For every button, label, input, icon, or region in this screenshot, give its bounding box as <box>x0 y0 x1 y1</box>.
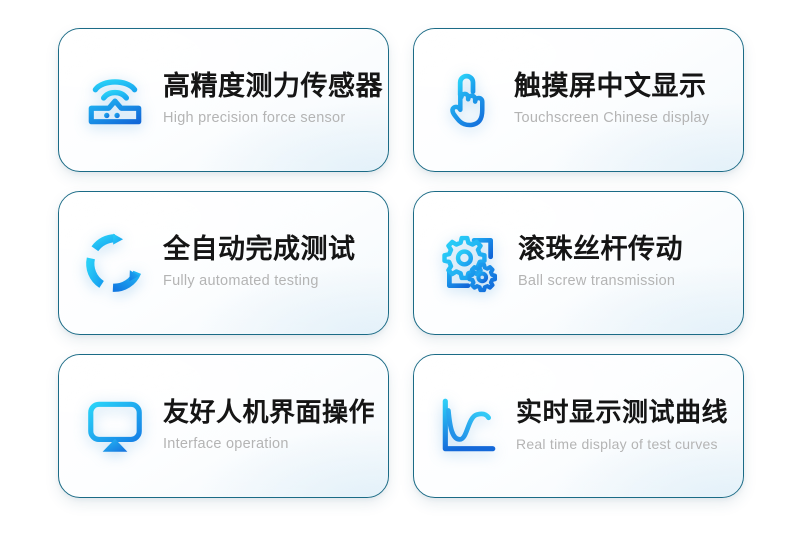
feature-card-fully-automated-testing[interactable]: 全自动完成测试 Fully automated testing <box>58 191 389 335</box>
feature-card-touchscreen-chinese-display[interactable]: 触摸屏中文显示 Touchscreen Chinese display <box>413 28 744 172</box>
touch-hand-icon <box>434 64 506 136</box>
circular-arrows-refresh-icon <box>79 227 151 299</box>
feature-subtitle: Interface operation <box>163 436 378 453</box>
feature-card-text: 触摸屏中文显示 Touchscreen Chinese display <box>514 71 733 129</box>
feature-title: 滚珠丝杆传动 <box>518 234 733 264</box>
monitor-bar-chart-icon <box>79 390 151 462</box>
feature-card-grid: 高精度测力传感器 High precision force sensor <box>0 0 790 545</box>
feature-card-ball-screw-transmission[interactable]: 滚珠丝杆传动 Ball screw transmission <box>413 191 744 335</box>
feature-title: 实时显示测试曲线 <box>516 398 733 427</box>
feature-card-interface-operation[interactable]: 友好人机界面操作 Interface operation <box>58 354 389 498</box>
wireless-force-sensor-icon <box>79 64 151 136</box>
feature-subtitle: Touchscreen Chinese display <box>514 110 733 127</box>
feature-subtitle: High precision force sensor <box>163 110 378 127</box>
feature-card-text: 友好人机界面操作 Interface operation <box>163 398 378 455</box>
gears-settings-icon <box>434 227 506 299</box>
feature-title: 触摸屏中文显示 <box>514 71 733 101</box>
feature-card-text: 高精度测力传感器 High precision force sensor <box>163 71 378 129</box>
feature-card-text: 实时显示测试曲线 Real time display of test curve… <box>516 398 733 454</box>
feature-title: 全自动完成测试 <box>163 234 378 264</box>
feature-subtitle: Fully automated testing <box>163 273 378 290</box>
feature-card-real-time-test-curves[interactable]: 实时显示测试曲线 Real time display of test curve… <box>413 354 744 498</box>
feature-title: 高精度测力传感器 <box>163 71 378 101</box>
line-chart-curve-icon <box>432 390 504 462</box>
feature-card-text: 滚珠丝杆传动 Ball screw transmission <box>518 234 733 292</box>
feature-subtitle: Real time display of test curves <box>516 436 733 452</box>
feature-card-text: 全自动完成测试 Fully automated testing <box>163 234 378 292</box>
feature-card-high-precision-force-sensor[interactable]: 高精度测力传感器 High precision force sensor <box>58 28 389 172</box>
feature-title: 友好人机界面操作 <box>163 398 378 427</box>
feature-subtitle: Ball screw transmission <box>518 273 733 290</box>
